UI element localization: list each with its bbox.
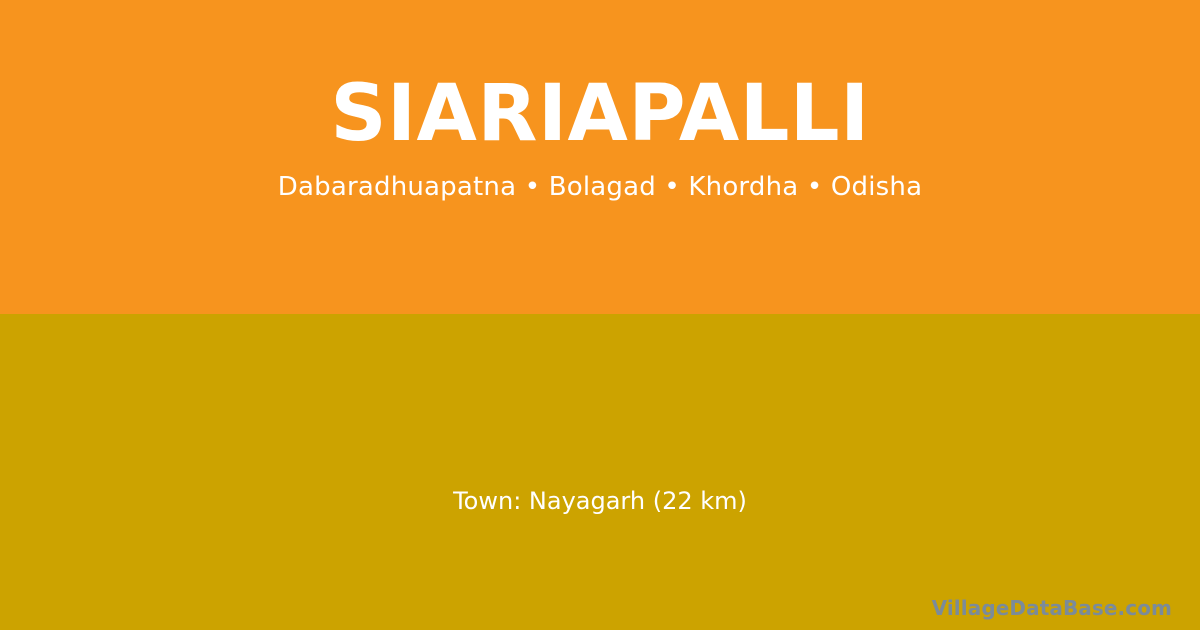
header-band: SIARIAPALLI Dabaradhuapatna • Bolagad • … (0, 0, 1200, 314)
village-info-card: SIARIAPALLI Dabaradhuapatna • Bolagad • … (0, 0, 1200, 630)
nearest-town-text: Town: Nayagarh (22 km) (0, 486, 1200, 516)
details-band: Town: Nayagarh (22 km) VillageDataBase.c… (0, 314, 1200, 630)
site-watermark: VillageDataBase.com (932, 595, 1172, 621)
breadcrumb: Dabaradhuapatna • Bolagad • Khordha • Od… (278, 170, 922, 204)
page-title: SIARIAPALLI (330, 72, 869, 156)
